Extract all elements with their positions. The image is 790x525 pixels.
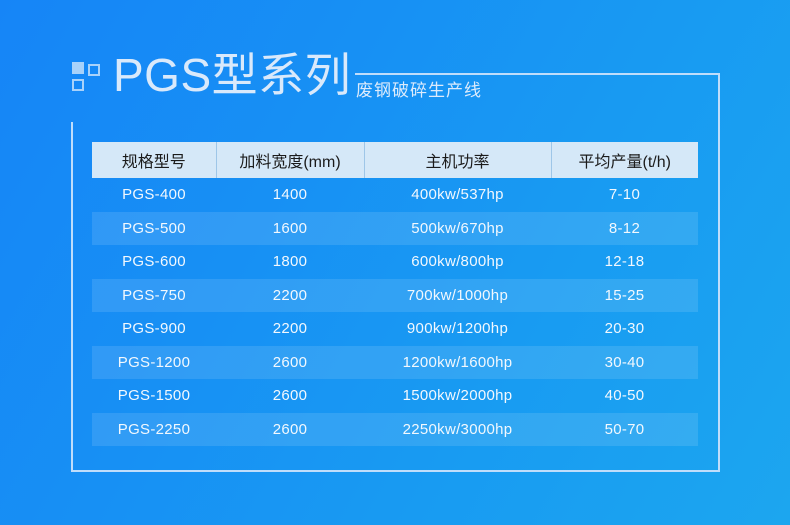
cell-feed-width: 2600 [216, 413, 364, 447]
cell-model: PGS-750 [92, 279, 216, 313]
cell-model: PGS-900 [92, 312, 216, 346]
cell-model: PGS-600 [92, 245, 216, 279]
cell-main-power: 400kw/537hp [364, 178, 551, 212]
table-row: PGS-600 1800 600kw/800hp 12-18 [92, 245, 698, 279]
cell-feed-width: 2200 [216, 312, 364, 346]
frame-edge-left [71, 122, 73, 472]
square-filled-icon [72, 62, 84, 74]
square-outline-bottom-left-icon [72, 79, 84, 91]
table-row: PGS-750 2200 700kw/1000hp 15-25 [92, 279, 698, 313]
cell-avg-output: 15-25 [551, 279, 698, 313]
table-header-row: 规格型号 加料宽度(mm) 主机功率 平均产量(t/h) [92, 142, 698, 178]
cell-avg-output: 50-70 [551, 413, 698, 447]
frame-edge-top [355, 73, 720, 75]
cell-feed-width: 2600 [216, 346, 364, 380]
page-subtitle: 废钢破碎生产线 [356, 80, 482, 102]
cell-main-power: 600kw/800hp [364, 245, 551, 279]
cell-main-power: 1200kw/1600hp [364, 346, 551, 380]
column-header-feed-width: 加料宽度(mm) [216, 142, 364, 178]
cell-feed-width: 1400 [216, 178, 364, 212]
cell-avg-output: 20-30 [551, 312, 698, 346]
cell-avg-output: 12-18 [551, 245, 698, 279]
three-squares-icon [72, 62, 102, 92]
cell-main-power: 1500kw/2000hp [364, 379, 551, 413]
cell-model: PGS-1200 [92, 346, 216, 380]
cell-avg-output: 7-10 [551, 178, 698, 212]
cell-feed-width: 1800 [216, 245, 364, 279]
cell-model: PGS-500 [92, 212, 216, 246]
frame-edge-bottom [71, 470, 720, 472]
cell-feed-width: 1600 [216, 212, 364, 246]
cell-feed-width: 2200 [216, 279, 364, 313]
cell-feed-width: 2600 [216, 379, 364, 413]
cell-model: PGS-400 [92, 178, 216, 212]
table-row: PGS-500 1600 500kw/670hp 8-12 [92, 212, 698, 246]
table-row: PGS-900 2200 900kw/1200hp 20-30 [92, 312, 698, 346]
cell-avg-output: 30-40 [551, 346, 698, 380]
cell-main-power: 700kw/1000hp [364, 279, 551, 313]
table-body: PGS-400 1400 400kw/537hp 7-10 PGS-500 16… [92, 178, 698, 446]
table-row: PGS-400 1400 400kw/537hp 7-10 [92, 178, 698, 212]
table-row: PGS-1500 2600 1500kw/2000hp 40-50 [92, 379, 698, 413]
cell-main-power: 500kw/670hp [364, 212, 551, 246]
table-row: PGS-1200 2600 1200kw/1600hp 30-40 [92, 346, 698, 380]
square-outline-top-right-icon [88, 64, 100, 76]
specifications-table: 规格型号 加料宽度(mm) 主机功率 平均产量(t/h) PGS-400 140… [92, 142, 698, 446]
column-header-model: 规格型号 [92, 142, 216, 178]
cell-model: PGS-1500 [92, 379, 216, 413]
cell-model: PGS-2250 [92, 413, 216, 447]
cell-avg-output: 40-50 [551, 379, 698, 413]
column-header-avg-output: 平均产量(t/h) [551, 142, 698, 178]
cell-main-power: 900kw/1200hp [364, 312, 551, 346]
table-row: PGS-2250 2600 2250kw/3000hp 50-70 [92, 413, 698, 447]
cell-main-power: 2250kw/3000hp [364, 413, 551, 447]
page-title: PGS型系列 [113, 48, 351, 102]
table-header: 规格型号 加料宽度(mm) 主机功率 平均产量(t/h) [92, 142, 698, 178]
column-header-main-power: 主机功率 [364, 142, 551, 178]
cell-avg-output: 8-12 [551, 212, 698, 246]
banner-canvas: PGS型系列 废钢破碎生产线 规格型号 加料宽度(mm) 主机功率 平均产量(t… [0, 0, 790, 525]
frame-edge-right [718, 73, 720, 472]
